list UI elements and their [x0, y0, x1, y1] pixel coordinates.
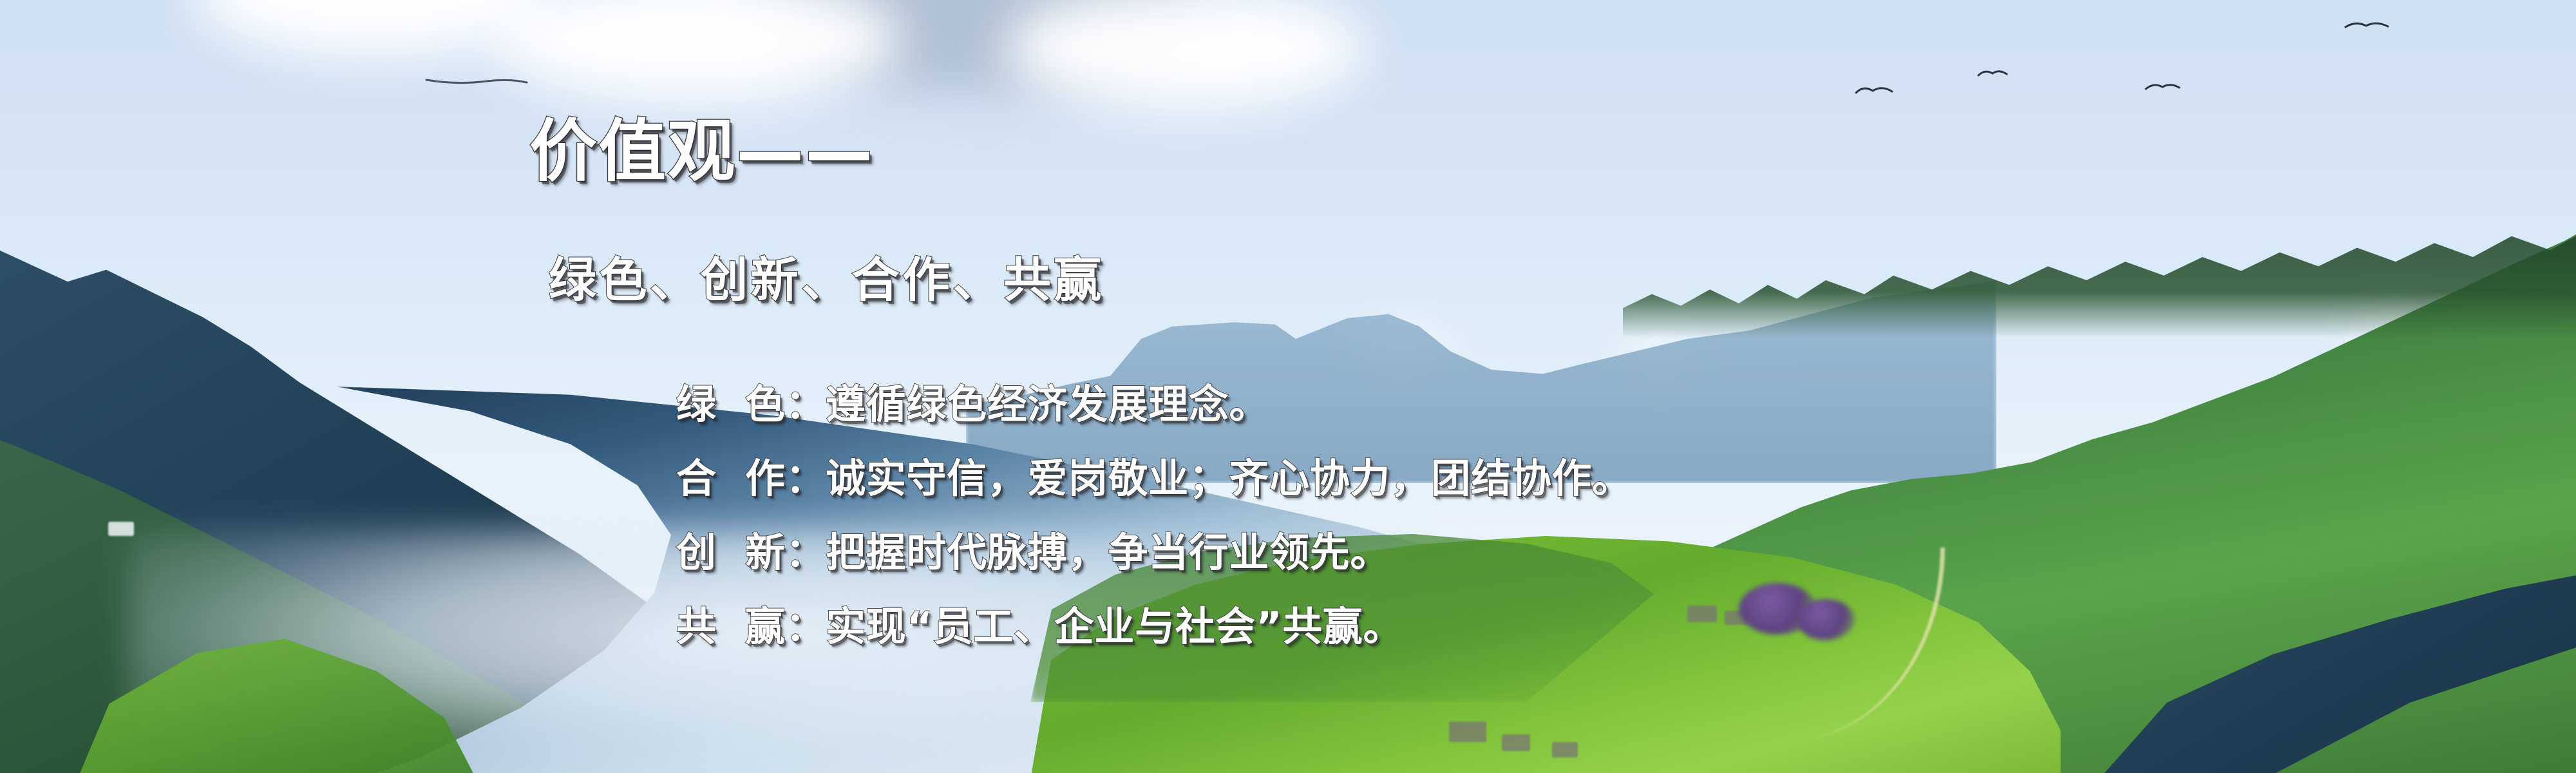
value-line-green: 绿 色：遵循绿色经济发展理念。	[676, 385, 1269, 425]
page-title: 价值观——	[529, 118, 875, 186]
value-line-cooperation: 合 作：诚实守信，爱岗敬业；齐心协力，团结协作。	[676, 459, 1633, 499]
value-line-innovation: 创 新：把握时代脉搏，争当行业领先。	[676, 533, 1390, 573]
text-content: 价值观—— 绿色、创新、合作、共赢 绿 色：遵循绿色经济发展理念。 合 作：诚实…	[0, 0, 2576, 773]
values-banner: 价值观—— 绿色、创新、合作、共赢 绿 色：遵循绿色经济发展理念。 合 作：诚实…	[0, 0, 2576, 773]
value-line-winwin: 共 赢：实现“员工、企业与社会”共赢。	[676, 607, 1403, 647]
values-subtitle: 绿色、创新、合作、共赢	[549, 256, 1104, 304]
